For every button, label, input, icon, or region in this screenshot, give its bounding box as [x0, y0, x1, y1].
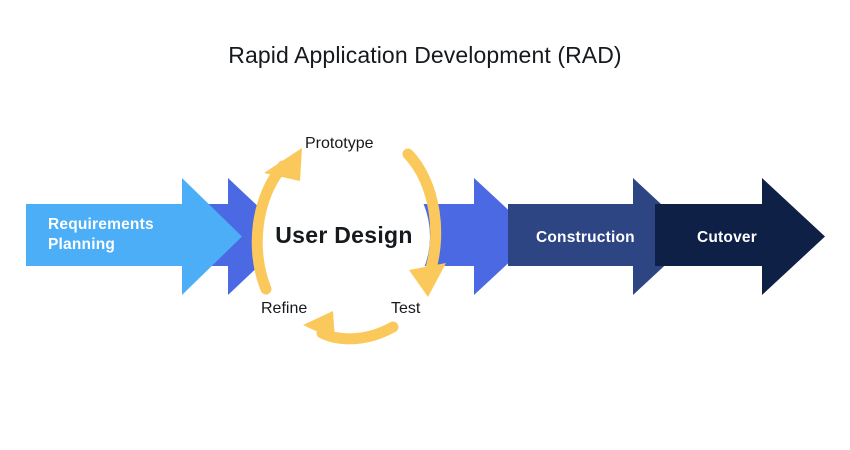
- phase-arrow-requirements-planning[interactable]: Requirements Planning: [26, 178, 242, 295]
- phase-arrow-cutover[interactable]: Cutover: [655, 178, 825, 295]
- phase-label-construction: Construction: [536, 229, 635, 246]
- cycle-step-label-prototype: Prototype: [305, 135, 374, 152]
- phase-label-requirements-line2: Planning: [48, 236, 115, 253]
- diagram-canvas: Requirements Planning Construction Cutov…: [0, 0, 850, 450]
- rad-diagram: Rapid Application Development (RAD) Requ…: [0, 0, 850, 450]
- cycle-step-label-test: Test: [391, 300, 421, 317]
- cycle-step-label-refine: Refine: [261, 300, 307, 317]
- user-design-center-label: User Design: [275, 222, 413, 248]
- phase-label-requirements-line1: Requirements: [48, 216, 154, 233]
- phase-label-cutover: Cutover: [697, 229, 757, 246]
